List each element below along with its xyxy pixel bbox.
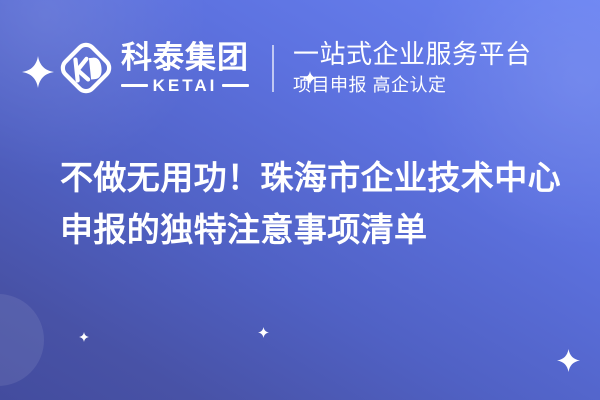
brand-name-en-row: KETAI — [121, 77, 249, 94]
slogan-sub-text: 项目申报 高企认定 — [293, 76, 532, 95]
page-title-line-2: 申报的独特注意事项清单 — [60, 204, 560, 256]
sparkle-star-icon — [557, 349, 580, 372]
header-divider — [272, 45, 274, 92]
sparkle-star-icon — [22, 56, 54, 88]
brand-name-cn: 科泰集团 — [121, 42, 249, 73]
brand-name-en: KETAI — [148, 77, 223, 94]
background-circle-bottom-left — [0, 294, 44, 386]
brand-wordmark: 科泰集团 KETAI — [121, 42, 249, 94]
sparkle-star-icon — [258, 327, 269, 338]
brand-rule-right — [222, 84, 249, 87]
brand-rule-left — [121, 84, 148, 87]
ketai-diamond-monogram-icon — [57, 39, 115, 97]
slogan-main-text: 一站式企业服务平台 — [293, 41, 532, 68]
page-title: 不做无用功！珠海市企业技术中心 申报的独特注意事项清单 — [60, 152, 560, 256]
slogan-block: 一站式企业服务平台 项目申报 高企认定 — [293, 41, 532, 94]
banner-header: 科泰集团 KETAI 一站式企业服务平台 项目申报 高企认定 — [0, 0, 600, 136]
page-title-line-1: 不做无用功！珠海市企业技术中心 — [60, 152, 560, 204]
sparkle-star-icon — [79, 332, 89, 342]
brand-lockup: 科泰集团 KETAI — [57, 39, 249, 97]
promo-banner: 科泰集团 KETAI 一站式企业服务平台 项目申报 高企认定 不做无用功！珠海市… — [0, 0, 600, 400]
